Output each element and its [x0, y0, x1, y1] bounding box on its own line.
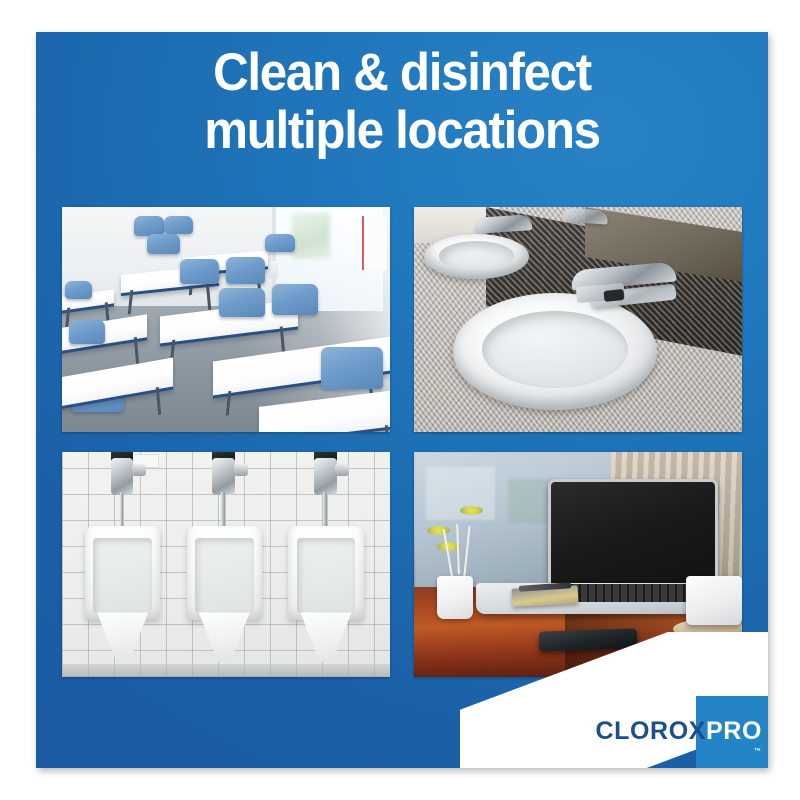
restroom-sinks-image	[414, 207, 742, 432]
logo-clorox-text: CLOROX	[595, 717, 706, 745]
flower-bloom	[460, 506, 483, 515]
classroom-table	[259, 389, 390, 432]
reed-diffuser	[437, 576, 473, 619]
cloroxpro-logo: CLOROXPRO ™	[460, 632, 768, 768]
coffee-mug	[686, 576, 742, 626]
classroom-image	[62, 207, 390, 432]
flush-valve	[212, 458, 235, 495]
classroom-chair	[180, 259, 219, 284]
classroom-chair	[272, 284, 318, 316]
sink-front	[453, 293, 656, 410]
headline-line-1: Clean & disinfect	[62, 44, 743, 102]
photo-restroom-sinks	[414, 207, 742, 432]
page-title: Clean & disinfect multiple locations	[36, 44, 768, 160]
classroom-chair	[69, 320, 105, 345]
classroom-chair	[147, 234, 180, 254]
classroom-chair	[65, 281, 91, 299]
photo-urinals	[62, 452, 390, 677]
photo-classroom	[62, 207, 390, 432]
classroom-chair	[226, 257, 265, 284]
classroom-chair	[164, 216, 194, 234]
restroom-floor	[62, 664, 390, 678]
logo-pro-text: PRO	[706, 717, 762, 745]
classroom-chair	[321, 347, 383, 390]
headline-line-2: multiple locations	[62, 102, 743, 160]
urinal-bowl	[187, 526, 262, 620]
urinal-fixture	[288, 526, 363, 657]
urinal-base	[97, 612, 148, 662]
urinals-image	[62, 452, 390, 677]
classroom-chair	[265, 234, 295, 252]
urinal-fixture	[85, 526, 160, 657]
urinal-fixture	[187, 526, 262, 657]
classroom-chair	[219, 288, 265, 317]
flush-valve	[111, 458, 134, 495]
promo-screenshot: Clean & disinfect multiple locations	[0, 0, 800, 800]
urinal-bowl	[288, 526, 363, 620]
laptop-keyboard	[565, 584, 703, 602]
faucet-reflection	[561, 208, 608, 225]
flush-valve	[314, 458, 337, 495]
promo-card: Clean & disinfect multiple locations	[36, 32, 768, 768]
classroom-poster	[362, 216, 387, 270]
urinal-base	[199, 612, 250, 662]
photo-grid	[62, 207, 742, 677]
trademark-symbol: ™	[754, 748, 761, 755]
logo-wordmark: CLOROXPRO	[595, 719, 762, 744]
urinal-bowl	[85, 526, 160, 620]
sink-back	[424, 234, 529, 279]
urinal-base	[300, 612, 351, 662]
